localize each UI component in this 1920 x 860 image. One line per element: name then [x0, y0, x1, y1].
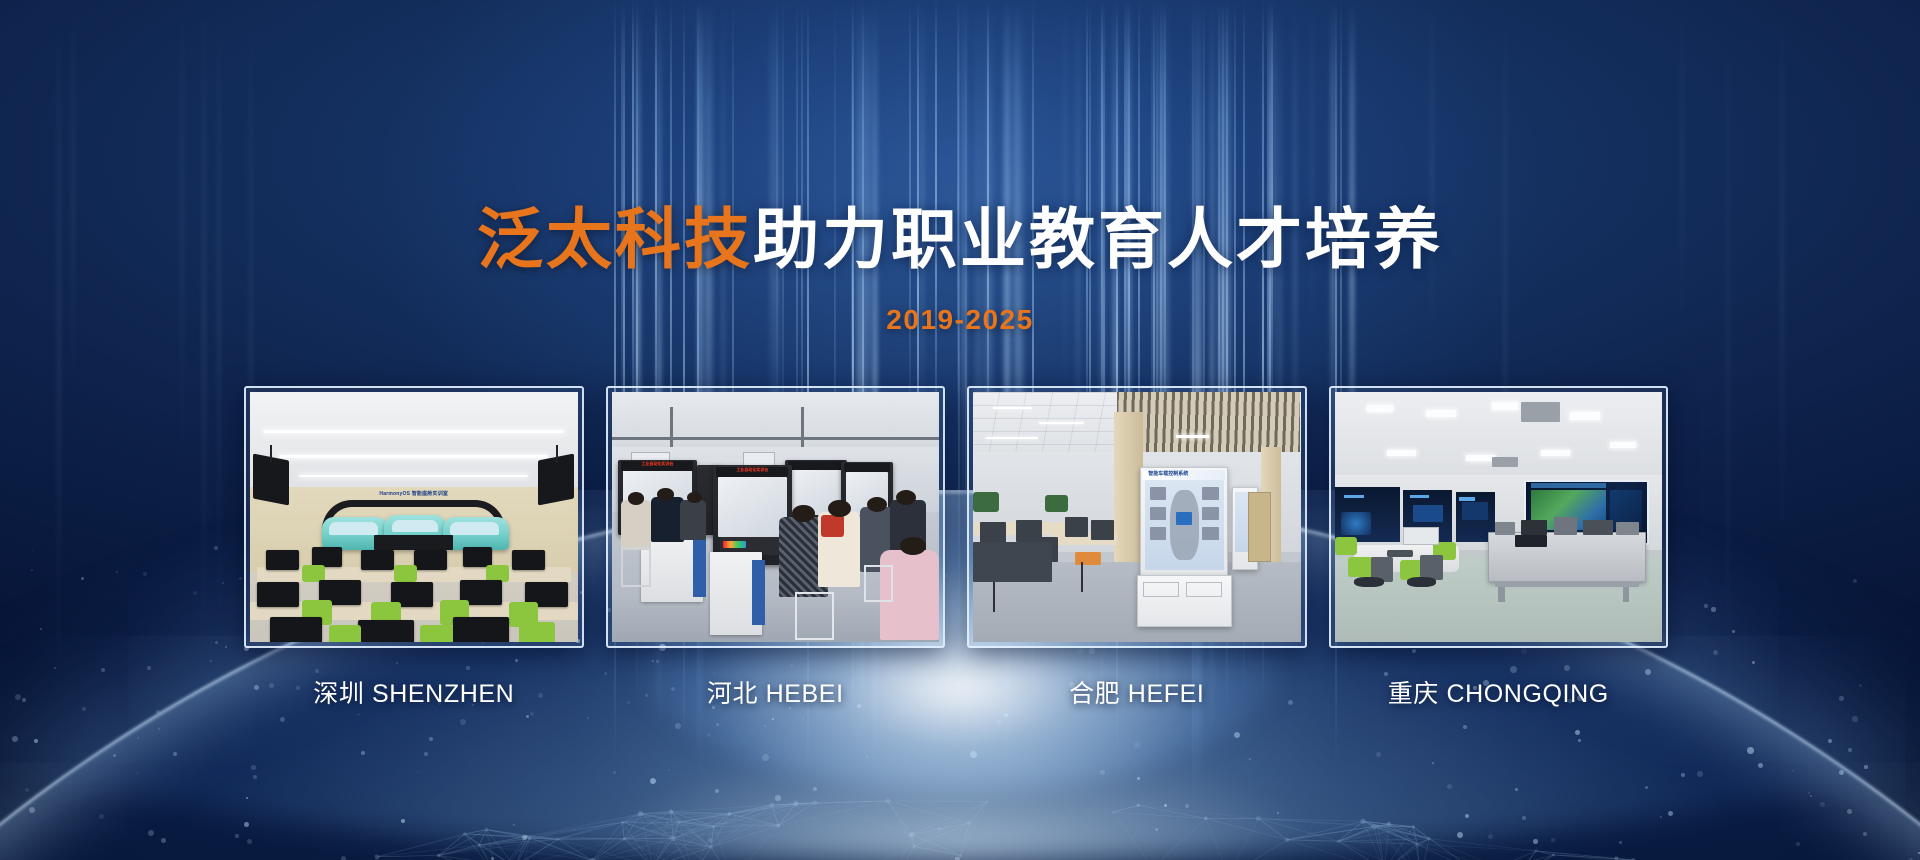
photo-chongqing-smart-lab	[1335, 392, 1663, 642]
photo-card-row: HarmonyOS 智能座舱实训室	[244, 386, 1668, 648]
photo-card-hebei[interactable]: 工业自动化实训台 工业自动化实训台	[606, 386, 946, 648]
photo3-cabinet-title: 智能车载控制系统	[1148, 470, 1188, 477]
brand-name: 泛太科技	[477, 202, 753, 276]
headline-rest: 助力职业教育人才培养	[753, 202, 1443, 276]
caption-shenzhen: 深圳 SHENZHEN	[244, 672, 584, 716]
photo-card-shenzhen[interactable]: HarmonyOS 智能座舱实训室	[244, 386, 584, 648]
photo-hebei-training-lab: 工业自动化实训台 工业自动化实训台	[612, 392, 940, 642]
caption-hefei: 合肥 HEFEI	[967, 672, 1307, 716]
photo-shenzhen-classroom: HarmonyOS 智能座舱实训室	[250, 392, 578, 642]
photo-card-hefei[interactable]: 智能车载控制系统	[967, 386, 1307, 648]
photo1-banner-text: HarmonyOS 智能座舱实训室	[250, 490, 578, 497]
caption-hebei: 河北 HEBEI	[606, 672, 946, 716]
subtitle-year-range: 2019-2025	[0, 304, 1920, 336]
caption-row: 深圳 SHENZHEN 河北 HEBEI 合肥 HEFEI 重庆 CHONGQI…	[244, 672, 1668, 716]
photo-hefei-display-room: 智能车载控制系统	[973, 392, 1301, 642]
photo-card-chongqing[interactable]	[1329, 386, 1669, 648]
promo-banner: 泛太科技助力职业教育人才培养 2019-2025 HarmonyOS 智能座舱实…	[0, 0, 1920, 860]
page-title: 泛太科技助力职业教育人才培养	[0, 205, 1920, 274]
caption-chongqing: 重庆 CHONGQING	[1329, 672, 1669, 716]
photo2-led-text: 工业自动化实训台	[716, 468, 788, 472]
